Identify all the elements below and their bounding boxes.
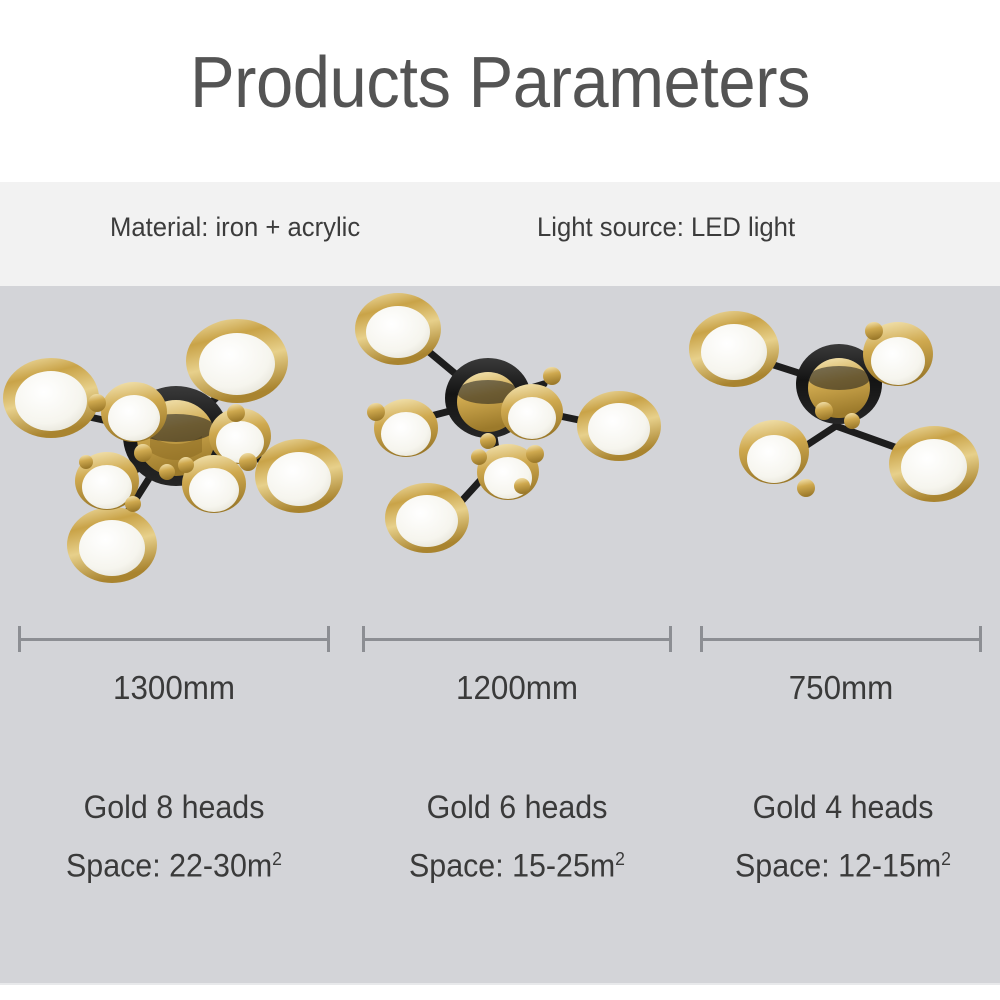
product-caption-2: Gold 6 heads Space: 15-25m2 — [348, 781, 686, 892]
product-caption-1: Gold 8 heads Space: 22-30m2 — [0, 781, 348, 892]
dimension-line-1300mm — [18, 626, 330, 652]
product-space-label-2: Space: 15-25m2 — [356, 833, 677, 892]
dimension-cap-right — [979, 626, 982, 652]
dimension-rail — [362, 638, 672, 641]
product-space-label-1: Space: 22-30m2 — [9, 833, 340, 892]
header-band: Products Parameters — [0, 0, 1000, 182]
spec-material: Material: iron + acrylic — [110, 208, 360, 246]
product-card-gold-8-heads: 1300mm Gold 8 heads Space: 22-30m2 — [0, 286, 348, 985]
dimension-cap-right — [327, 626, 330, 652]
chandelier-illustration-8-heads — [0, 286, 348, 616]
product-card-gold-6-heads: 1200mm Gold 6 heads Space: 15-25m2 — [348, 286, 686, 985]
dimension-line-750mm — [700, 626, 982, 652]
dimension-label-2: 1200mm — [370, 668, 665, 708]
dimension-cap-left — [700, 626, 703, 652]
dimension-label-1: 1300mm — [26, 668, 322, 708]
product-heads-label-2: Gold 6 heads — [356, 781, 677, 833]
chandelier-illustration-6-heads — [348, 286, 686, 616]
product-heads-label-3: Gold 4 heads — [694, 781, 992, 833]
spec-light-source: Light source: LED light — [537, 208, 795, 246]
product-parameters-page: Products Parameters Material: iron + acr… — [0, 0, 1000, 1000]
product-heads-label-1: Gold 8 heads — [9, 781, 340, 833]
dimension-label-3: 750mm — [707, 668, 975, 708]
bottom-band — [0, 985, 1000, 1000]
dimension-cap-left — [18, 626, 21, 652]
product-columns: 1300mm Gold 8 heads Space: 22-30m2 — [0, 286, 1000, 985]
chandelier-illustration-4-heads — [686, 286, 1000, 616]
product-space-label-3: Space: 12-15m2 — [694, 833, 992, 892]
product-card-gold-4-heads: 750mm Gold 4 heads Space: 12-15m2 — [686, 286, 1000, 985]
dimension-cap-left — [362, 626, 365, 652]
spec-band: Material: iron + acrylic Light source: L… — [0, 182, 1000, 286]
dimension-cap-right — [669, 626, 672, 652]
dimension-line-1200mm — [362, 626, 672, 652]
product-caption-3: Gold 4 heads Space: 12-15m2 — [686, 781, 1000, 892]
page-title: Products Parameters — [35, 40, 965, 126]
dimension-rail — [700, 638, 982, 641]
dimension-rail — [18, 638, 330, 641]
